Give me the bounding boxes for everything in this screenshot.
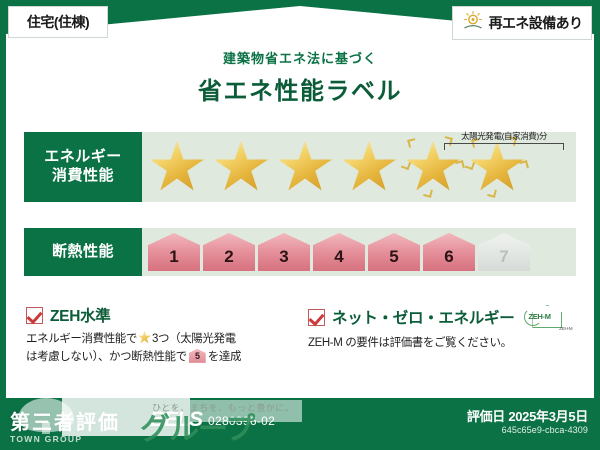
solar-annotation-bracket: [444, 143, 564, 150]
insulation-rating-panel: 1 2 3 4 5 6 7: [142, 228, 576, 276]
zeh-m-logo-sublabel: ZEH-M: [559, 326, 572, 331]
zeh-standard-header: ZEH水準: [26, 304, 296, 326]
housing-type-badge: 住宅(住棟): [8, 6, 108, 38]
title-subtitle: 建築物省エネ法に基づく: [0, 48, 600, 67]
insulation-badge-3: 3: [258, 233, 310, 271]
insulation-badge-6: 6: [423, 233, 475, 271]
zeh-desc-part3: を達成: [208, 351, 241, 363]
star-2: [210, 135, 272, 199]
star-4: [338, 135, 400, 199]
inline-star-icon: [138, 331, 151, 344]
zeh-m-logo-label: ZEH-M: [528, 312, 550, 321]
page-title: 省エネ性能ラベル: [0, 71, 600, 106]
insulation-badge-5: 5: [368, 233, 420, 271]
zeh-desc-part2: は考慮しない）、かつ断熱性能で: [26, 351, 187, 363]
insulation-badge-7: 7: [478, 233, 530, 271]
zeh-desc-star-count: 3つ（太陽光発電: [152, 333, 236, 345]
zeh-standard-description: エネルギー消費性能で3つ（太陽光発電 は考慮しない）、かつ断熱性能で5を達成: [26, 331, 296, 367]
housing-type-label: 住宅(住棟): [27, 12, 89, 32]
town-group-logo: TOWN GROUP: [4, 398, 132, 448]
zeh-desc-part1: エネルギー消費性能で: [26, 333, 137, 345]
insulation-label: 断熱性能: [24, 228, 142, 276]
insulation-badge-number: 5: [389, 248, 398, 271]
evaluation-date: 評価日 2025年3月5日: [467, 406, 588, 425]
energy-label-line2: 消費性能: [52, 167, 114, 186]
title-block: 建築物省エネ法に基づく 省エネ性能ラベル: [0, 48, 600, 106]
renewable-equipment-badge: 再エネ設備あり: [452, 6, 592, 40]
insulation-badge-1: 1: [148, 233, 200, 271]
insulation-badge-2: 2: [203, 233, 255, 271]
renewable-equipment-label: 再エネ設備あり: [489, 13, 583, 33]
zeh-standard-block: ZEH水準 エネルギー消費性能で3つ（太陽光発電 は考慮しない）、かつ断熱性能で…: [26, 304, 296, 367]
insulation-badge-number: 4: [334, 248, 343, 271]
insulation-badge-number: 2: [224, 248, 233, 271]
energy-performance-label: 住宅(住棟) 再エネ設備あり 建築物省エネ法に基づく 省エネ性能ラベル: [0, 0, 600, 450]
insulation-badge-group: 1 2 3 4 5 6 7: [142, 228, 530, 276]
sun-icon: [462, 10, 484, 37]
star-1: [146, 135, 208, 199]
insulation-badge-4: 4: [313, 233, 365, 271]
solar-generation-annotation: 太陽光発電(自家消費)分: [434, 130, 574, 150]
insulation-badge-number: 1: [169, 248, 178, 271]
net-zero-energy-block: ネット・ゼロ・エネルギー ZEH-M ZEH-M ZEH-M の要件は評価書をご…: [308, 304, 576, 353]
net-zero-energy-title: ネット・ゼロ・エネルギー: [332, 306, 514, 328]
evaluation-id: 645c65e9-cbca-4309: [502, 425, 588, 435]
zeh-standard-title: ZEH水準: [50, 304, 111, 326]
town-group-text: TOWN GROUP: [10, 434, 82, 444]
inline-house-badge-icon: 5: [189, 349, 206, 363]
net-zero-energy-header: ネット・ゼロ・エネルギー ZEH-M ZEH-M: [308, 304, 576, 330]
insulation-performance-row: 断熱性能 1 2 3 4 5 6 7: [24, 228, 576, 276]
insulation-badge-number: 6: [444, 248, 453, 271]
energy-consumption-label: エネルギー 消費性能: [24, 132, 142, 202]
check-icon: [308, 309, 325, 326]
energy-label-line1: エネルギー: [44, 148, 122, 167]
tree-trunk-icon: [42, 422, 50, 434]
inline-house-badge-number: 5: [189, 351, 206, 363]
watermark-group-text: グループ: [140, 404, 254, 448]
solar-annotation-text: 太陽光発電(自家消費)分: [434, 130, 574, 142]
insulation-label-text: 断熱性能: [52, 243, 114, 262]
star-3: [274, 135, 336, 199]
zeh-m-logo-icon: ZEH-M ZEH-M: [524, 304, 564, 330]
insulation-badge-number: 3: [279, 248, 288, 271]
check-icon: [26, 307, 43, 324]
net-zero-energy-description: ZEH-M の要件は評価書をご覧ください。: [308, 335, 576, 353]
insulation-badge-number: 7: [499, 248, 508, 271]
